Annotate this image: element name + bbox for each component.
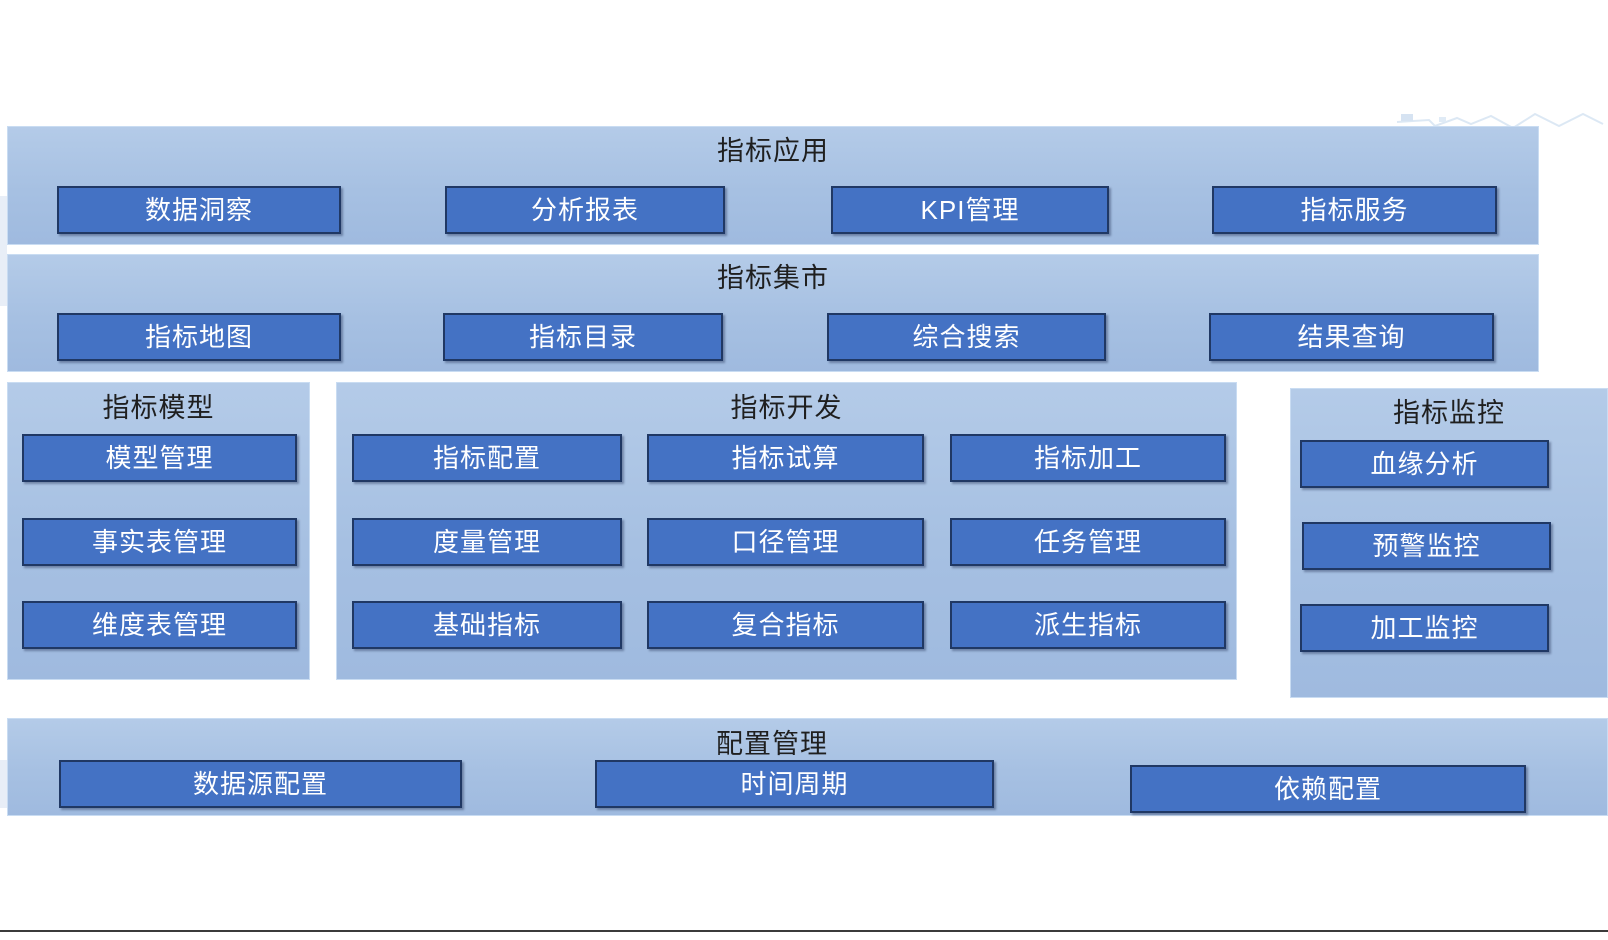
button-measure-management[interactable]: 度量管理 [352, 518, 622, 566]
architecture-diagram-canvas: 指标应用 数据洞察 分析报表 KPI管理 指标服务 指标集市 指标地图 指标目录… [0, 0, 1608, 940]
button-alert-monitoring[interactable]: 预警监控 [1302, 522, 1551, 570]
button-indicator-configuration[interactable]: 指标配置 [352, 434, 622, 482]
button-indicator-trial-calculation[interactable]: 指标试算 [647, 434, 924, 482]
button-model-management[interactable]: 模型管理 [22, 434, 297, 482]
panel-title-model: 指标模型 [8, 392, 309, 424]
button-basic-indicator[interactable]: 基础指标 [352, 601, 622, 649]
button-analysis-report[interactable]: 分析报表 [445, 186, 725, 234]
button-dependency-configuration[interactable]: 依赖配置 [1130, 765, 1526, 813]
button-indicator-service[interactable]: 指标服务 [1212, 186, 1497, 234]
button-kpi-management[interactable]: KPI管理 [831, 186, 1109, 234]
panel-title-application: 指标应用 [8, 135, 1538, 167]
button-result-query[interactable]: 结果查询 [1209, 313, 1494, 361]
button-derived-indicator[interactable]: 派生指标 [950, 601, 1226, 649]
button-fact-table-management[interactable]: 事实表管理 [22, 518, 297, 566]
button-lineage-analysis[interactable]: 血缘分析 [1300, 440, 1549, 488]
button-indicator-processing[interactable]: 指标加工 [950, 434, 1226, 482]
button-task-management[interactable]: 任务管理 [950, 518, 1226, 566]
button-processing-monitoring[interactable]: 加工监控 [1300, 604, 1549, 652]
button-data-insight[interactable]: 数据洞察 [57, 186, 341, 234]
panel-title-development: 指标开发 [337, 392, 1236, 424]
panel-title-configuration: 配置管理 [8, 728, 1536, 760]
button-indicator-catalog[interactable]: 指标目录 [443, 313, 723, 361]
button-comprehensive-search[interactable]: 综合搜索 [827, 313, 1106, 361]
button-time-period[interactable]: 时间周期 [595, 760, 994, 808]
button-indicator-map[interactable]: 指标地图 [57, 313, 341, 361]
panel-title-monitoring: 指标监控 [1291, 397, 1607, 429]
button-caliber-management[interactable]: 口径管理 [647, 518, 924, 566]
button-composite-indicator[interactable]: 复合指标 [647, 601, 924, 649]
button-datasource-configuration[interactable]: 数据源配置 [59, 760, 462, 808]
left-edge-artifact [0, 196, 7, 306]
page-bottom-rule [0, 930, 1608, 932]
button-dimension-table-management[interactable]: 维度表管理 [22, 601, 297, 649]
panel-title-marketplace: 指标集市 [8, 262, 1538, 294]
